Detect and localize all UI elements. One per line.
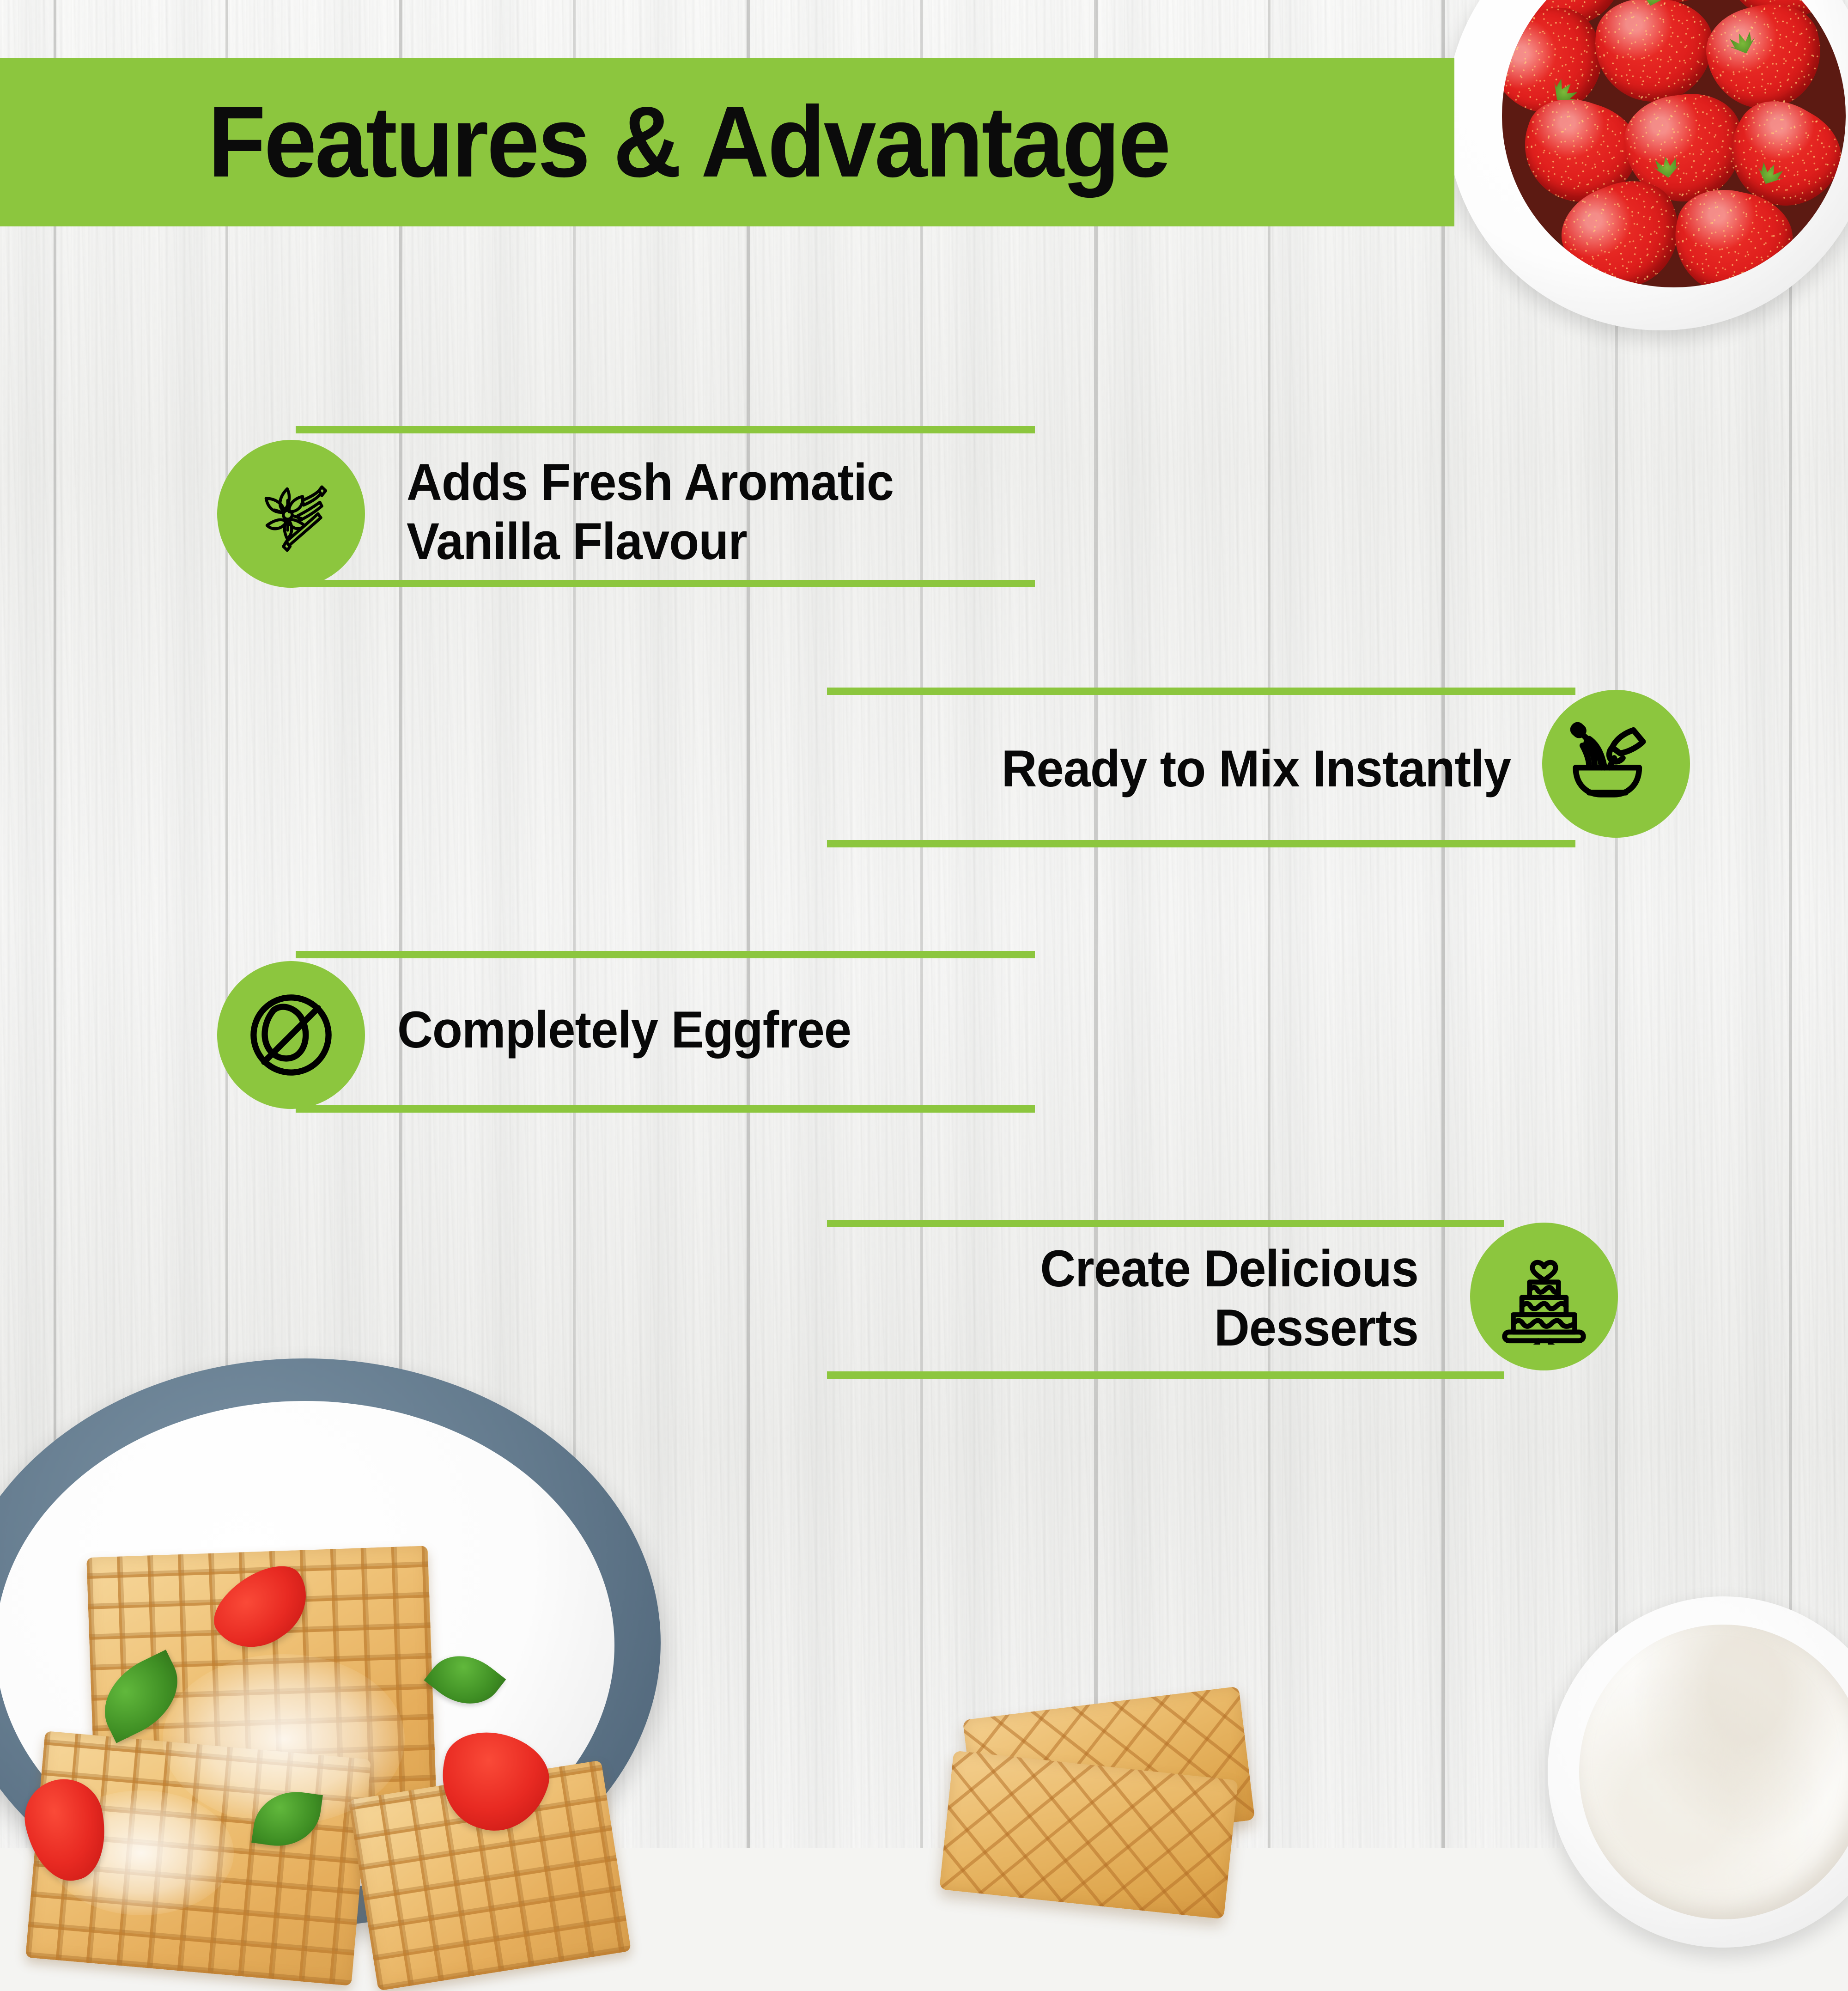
waffles-plate-photo xyxy=(0,1358,661,1927)
feature-rule-bottom xyxy=(827,840,1575,847)
feature-label: Ready to Mix Instantly xyxy=(883,739,1511,798)
whipped-cream-bowl-photo xyxy=(1548,1596,1848,1948)
strawberries-plate-photo xyxy=(1446,0,1848,330)
feature-icon-badge xyxy=(1470,1223,1618,1370)
page-title: Features & Advantage xyxy=(208,92,1169,193)
mixing-bowl-whisk-icon xyxy=(1568,716,1664,812)
feature-icon-badge xyxy=(1542,690,1690,838)
no-egg-icon xyxy=(243,987,339,1083)
header-banner: Features & Advantage xyxy=(0,58,1454,226)
feature-rule-bottom xyxy=(296,1105,1035,1113)
feature-label: Adds Fresh Aromatic Vanilla Flavour xyxy=(407,453,968,571)
tiered-cake-icon xyxy=(1496,1248,1592,1345)
feature-rule-bottom xyxy=(296,580,1035,587)
feature-rule-bottom xyxy=(827,1371,1504,1379)
feature-label: Create Delicious Desserts xyxy=(896,1239,1419,1357)
feature-icon-badge xyxy=(217,961,365,1109)
feature-rule-top xyxy=(296,426,1035,433)
vanilla-flower-bean-icon xyxy=(243,466,339,562)
waffle xyxy=(939,1750,1238,1919)
feature-label: Completely Eggfree xyxy=(397,1000,985,1059)
waffle-stack-photo xyxy=(938,1645,1335,1885)
feature-rule-top xyxy=(827,1220,1504,1227)
feature-rule-top xyxy=(296,951,1035,958)
feature-icon-badge xyxy=(217,440,365,588)
feature-rule-top xyxy=(827,688,1575,695)
